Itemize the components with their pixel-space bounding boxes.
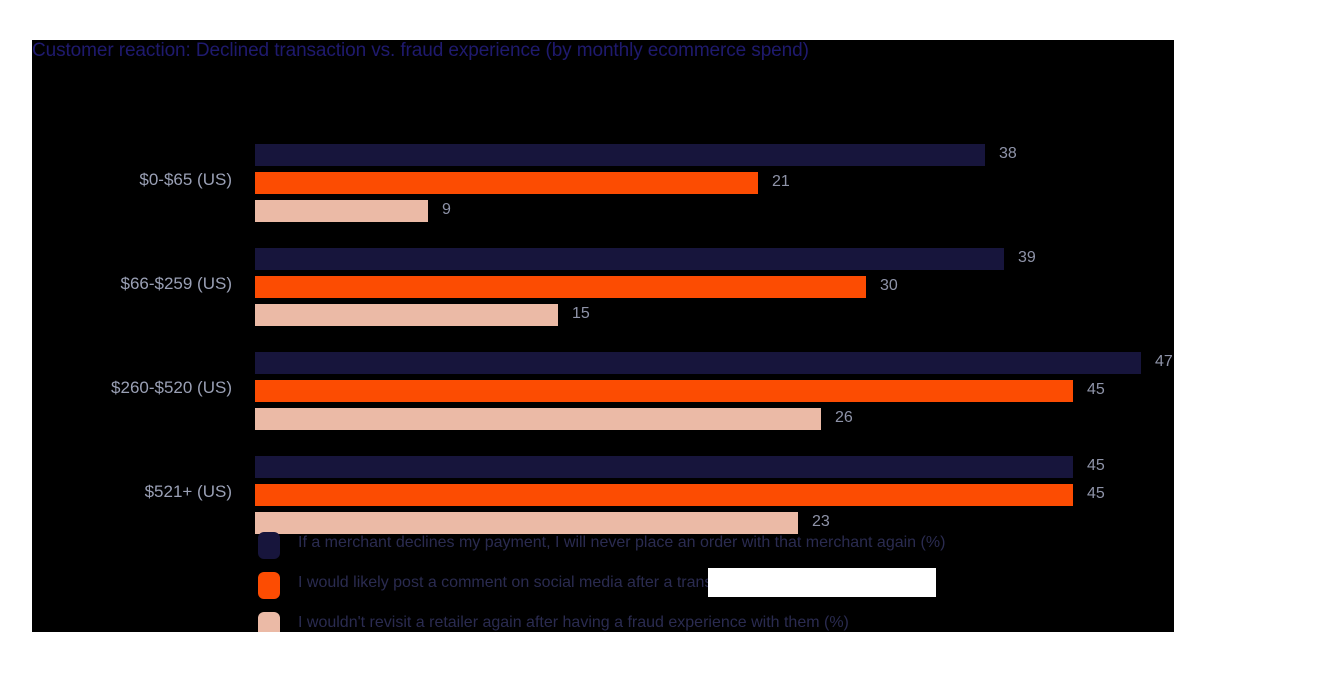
category-label: $66-$259 (US)	[32, 274, 232, 294]
bar-series-2[interactable]	[255, 304, 558, 326]
legend-label: I wouldn't revisit a retailer again afte…	[298, 614, 849, 632]
legend-label: If a merchant declines my payment, I wil…	[298, 534, 945, 552]
bar-value-label: 15	[572, 305, 590, 323]
category-label: $0-$65 (US)	[32, 170, 232, 190]
text-selection-highlight[interactable]: I would likely post a comment on social …	[708, 568, 936, 597]
legend-swatch-icon	[258, 612, 280, 632]
bar-series-0[interactable]	[255, 456, 1073, 478]
bar-value-label: 45	[1087, 381, 1105, 399]
chart-title: Customer reaction: Declined transaction …	[32, 40, 1174, 62]
bar-value-label: 45	[1087, 485, 1105, 503]
bar-series-0[interactable]	[255, 352, 1141, 374]
plot-area: Customer reaction: Declined transaction …	[32, 40, 1174, 632]
bar-value-label: 26	[835, 409, 853, 427]
bar-value-label: 21	[772, 173, 790, 191]
bar-series-0[interactable]	[255, 248, 1004, 270]
bar-series-2[interactable]	[255, 408, 821, 430]
bar-series-1[interactable]	[255, 380, 1073, 402]
bar-value-label: 47	[1155, 353, 1173, 371]
category-label: $521+ (US)	[32, 482, 232, 502]
bar-value-label: 39	[1018, 249, 1036, 267]
chart-canvas: Customer reaction: Declined transaction …	[0, 0, 1328, 688]
legend-swatch-icon	[258, 532, 280, 559]
category-label: $260-$520 (US)	[32, 378, 232, 398]
bar-value-label: 30	[880, 277, 898, 295]
legend-item-series-0[interactable]: If a merchant declines my payment, I wil…	[258, 528, 1158, 568]
bar-value-label: 45	[1087, 457, 1105, 475]
bar-series-1[interactable]	[255, 484, 1073, 506]
legend-item-series-2[interactable]: I wouldn't revisit a retailer again afte…	[258, 608, 1158, 632]
bar-value-label: 9	[442, 201, 451, 219]
bar-series-2[interactable]	[255, 200, 428, 222]
bar-series-1[interactable]	[255, 276, 866, 298]
legend-swatch-icon	[258, 572, 280, 599]
bar-series-1[interactable]	[255, 172, 758, 194]
bar-series-0[interactable]	[255, 144, 985, 166]
bar-value-label: 38	[999, 145, 1017, 163]
